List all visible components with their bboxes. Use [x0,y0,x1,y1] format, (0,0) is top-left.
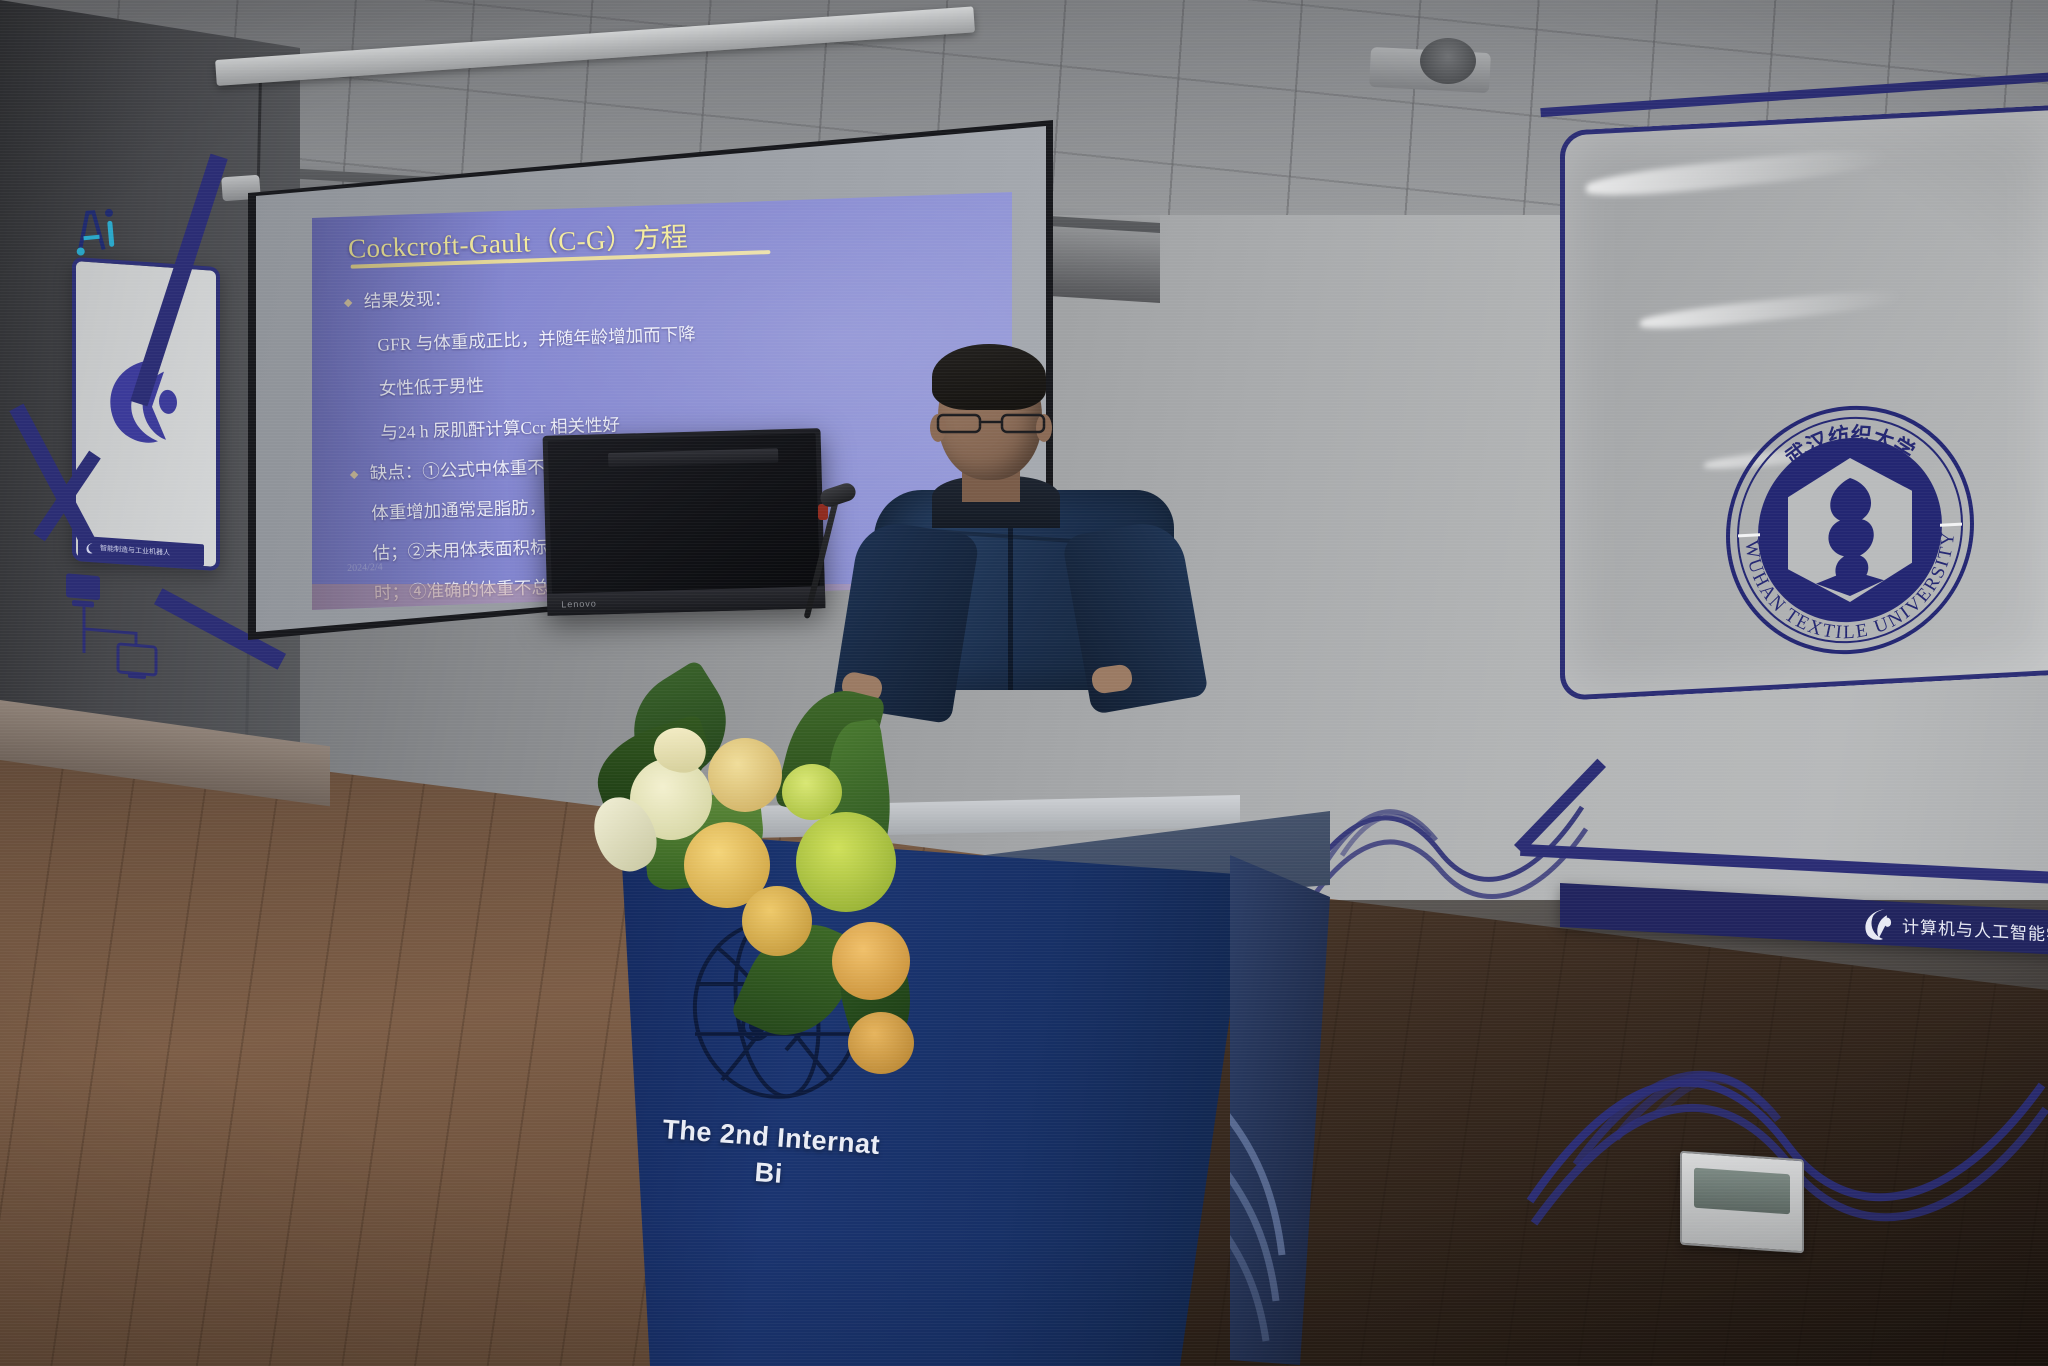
lecture-hall-photo: 智能制造与工业机器人 Cockcroft-Gault（C-G）方程 结果发现： … [0,0,2048,1366]
jacket-seam-center [1008,500,1013,690]
slide-date-stamp: 2024/2/4 [347,562,383,574]
network-devices-icon [60,565,180,695]
slide-bullet-marker-1 [344,295,353,309]
swoosh-small-icon [84,541,96,554]
wall-thermostat[interactable] [1680,1151,1804,1254]
eyeglasses-icon [936,412,1046,434]
monitor-screen-glare [608,448,778,467]
wall-badge-text: 智能制造与工业机器人 [100,543,170,558]
flower-bloom-green-small [782,764,842,820]
flower-bloom-green [796,812,896,912]
flower-bloom-peach-2 [848,1012,914,1074]
slide-line-1: GFR 与体重成正比，并随年龄增加而下降 [377,321,696,357]
lenovo-monitor[interactable]: Lenovo [543,428,826,616]
flower-arrangement [600,700,1020,1120]
speaker-hair [932,344,1046,410]
college-band-text: 计算机与人工智能学院 [1902,912,2048,947]
college-swoosh-icon [1860,905,1894,941]
thermostat-display [1694,1168,1790,1215]
flower-bloom-cream [708,738,782,812]
ceiling-speaker-icon [1420,38,1476,84]
slide-bullet-text-1: 结果发现： [363,285,451,313]
flower-bloom-yellow-2 [742,886,812,956]
slide-bullet-marker-2 [350,467,359,481]
monitor-screen [548,433,820,593]
monitor-brand-label: Lenovo [561,598,597,609]
slide-line-2: 女性低于男性 [378,372,484,401]
ai-wall-letters [70,204,124,258]
flower-bloom-peach [832,922,910,1000]
speaker-person [880,330,1180,670]
wuhan-textile-university-seal: 武汉纺织大学 WUHAN TEXTILE UNIVERSITY [1720,393,1980,667]
podium-side-panel [1230,855,1330,1365]
